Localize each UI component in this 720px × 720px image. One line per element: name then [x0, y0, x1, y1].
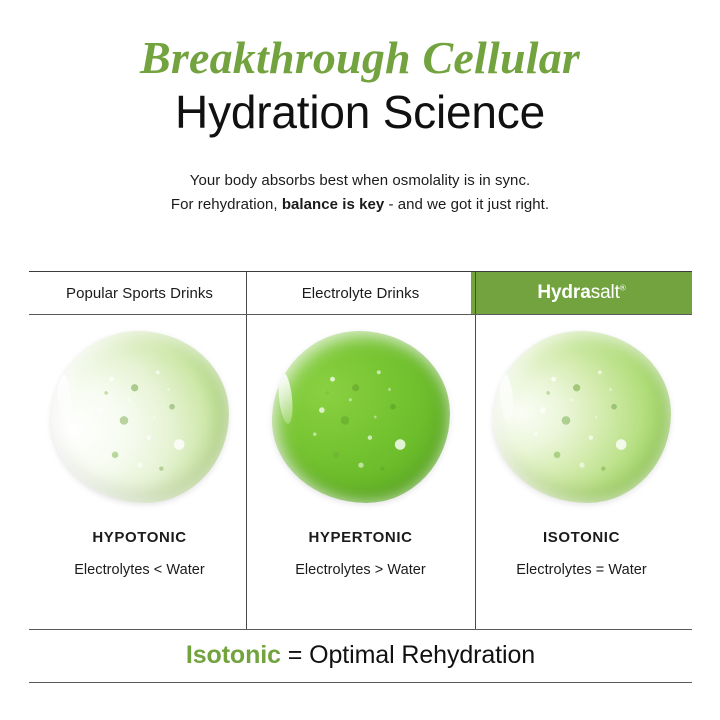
subtitle-line-2: For rehydration, balance is key - and we…	[0, 193, 720, 217]
subtitle-block: Your body absorbs best when osmolality i…	[0, 169, 720, 218]
page-title-block: Breakthrough Cellular Hydration Science	[0, 0, 720, 139]
column-divider-1	[246, 272, 247, 314]
column-header-label: Popular Sports Drinks	[66, 285, 213, 302]
table-body-row: HYPOTONIC Electrolytes < Water HYPERTONI…	[29, 315, 692, 630]
tonicity-formula: Electrolytes = Water	[516, 562, 647, 578]
registered-trademark-icon: ®	[620, 284, 626, 293]
brand-name-bold-part: Hydra	[537, 282, 590, 303]
tonicity-label: HYPOTONIC	[92, 529, 186, 546]
tonicity-label: HYPERTONIC	[308, 529, 412, 546]
column-header-hydrasalt: Hydrasalt®	[471, 272, 692, 314]
column-divider-2	[475, 315, 476, 630]
column-header-label: Electrolyte Drinks	[302, 285, 420, 302]
table-cell-sports-drinks: HYPOTONIC Electrolytes < Water	[29, 315, 250, 630]
droplet-rim	[493, 331, 671, 503]
subtitle-line-2-suffix: - and we got it just right.	[384, 196, 549, 213]
isotonic-droplet-image	[493, 331, 671, 503]
footer-block: Isotonic = Optimal Rehydration	[29, 629, 692, 683]
footer-rest-text: = Optimal Rehydration	[281, 641, 535, 669]
tonicity-label: ISOTONIC	[543, 529, 620, 546]
subtitle-line-1: Your body absorbs best when osmolality i…	[0, 169, 720, 193]
column-header-electrolyte-drinks: Electrolyte Drinks	[250, 272, 471, 314]
hypotonic-droplet-image	[51, 331, 229, 503]
droplet-rim	[51, 331, 229, 503]
footer-statement: Isotonic = Optimal Rehydration	[29, 630, 692, 682]
column-header-sports-drinks: Popular Sports Drinks	[29, 272, 250, 314]
subtitle-emphasis: balance is key	[282, 196, 384, 213]
page-title-script-line: Breakthrough Cellular	[0, 34, 720, 83]
tonicity-formula: Electrolytes < Water	[74, 562, 205, 578]
brand-name-light-part: salt	[591, 282, 620, 303]
page-title-main-line: Hydration Science	[0, 85, 720, 139]
table-cell-electrolyte-drinks: HYPERTONIC Electrolytes > Water	[250, 315, 471, 630]
footer-bottom-rule	[29, 682, 692, 683]
droplet-rim	[272, 331, 450, 503]
column-divider-2	[475, 272, 476, 314]
table-header-row: Popular Sports Drinks Electrolyte Drinks…	[29, 272, 692, 314]
tonicity-formula: Electrolytes > Water	[295, 562, 426, 578]
footer-highlight-word: Isotonic	[186, 641, 281, 669]
comparison-table: Popular Sports Drinks Electrolyte Drinks…	[29, 271, 692, 630]
table-cell-hydrasalt: ISOTONIC Electrolytes = Water	[471, 315, 692, 630]
column-divider-1	[246, 315, 247, 630]
hypertonic-droplet-image	[272, 331, 450, 503]
subtitle-line-2-prefix: For rehydration,	[171, 196, 282, 213]
hydrasalt-logo: Hydrasalt®	[537, 282, 625, 304]
